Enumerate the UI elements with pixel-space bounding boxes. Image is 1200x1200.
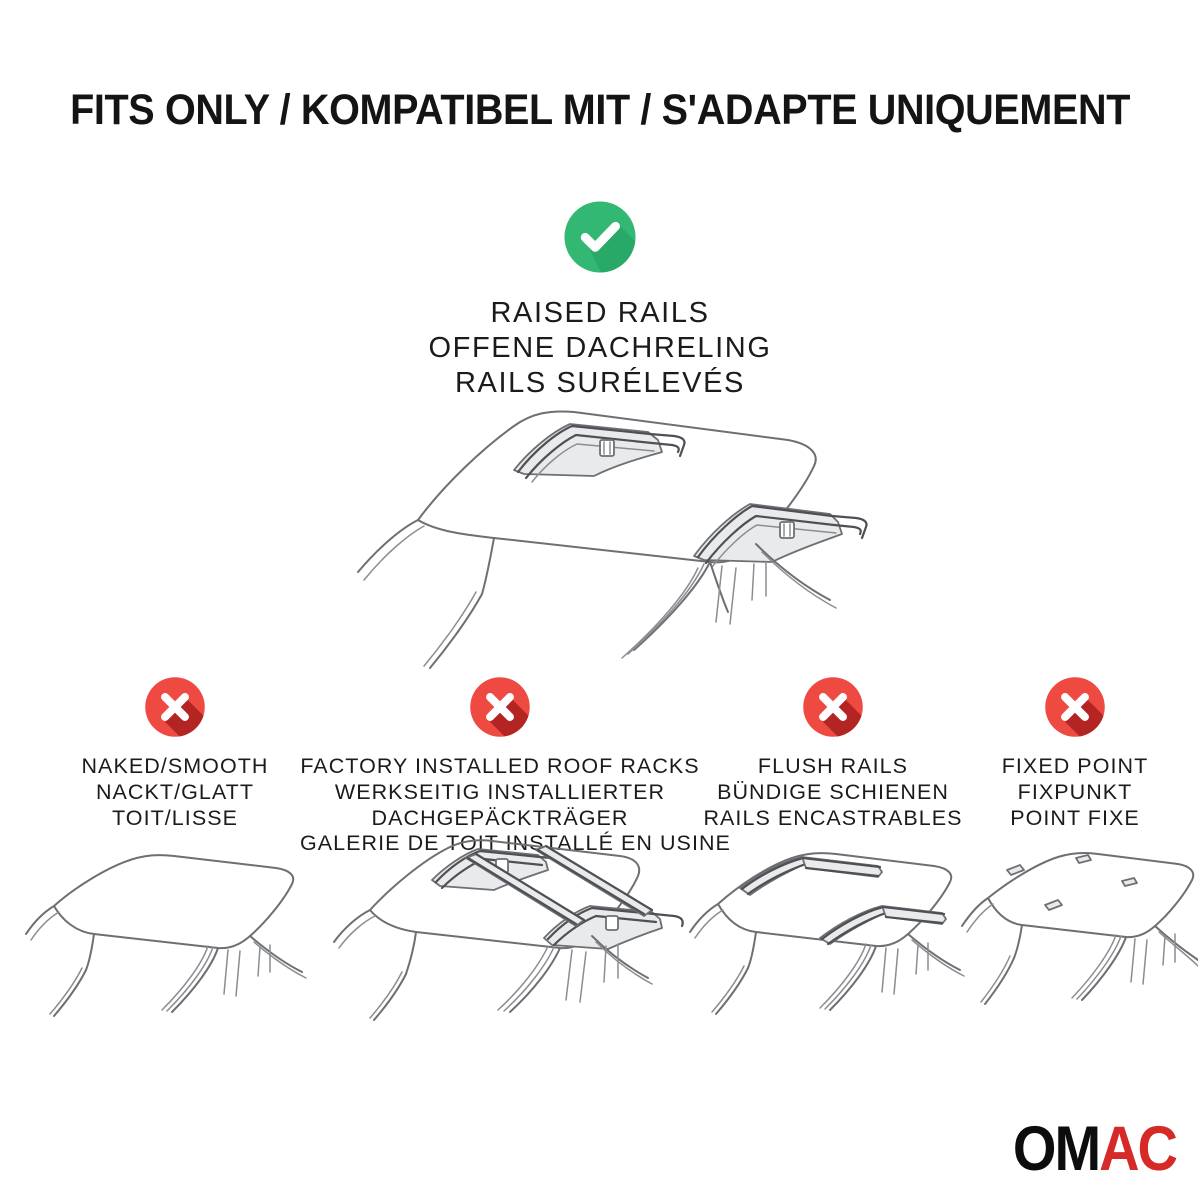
logo-text-ac: AC (1099, 1113, 1176, 1184)
fixed-point-label-en: FIXED POINT (952, 754, 1198, 780)
fixed-point-label-fr: POINT FIXE (952, 806, 1198, 832)
flush-rails-label-fr: RAILS ENCASTRABLES (678, 806, 988, 832)
naked-smooth-label-de: NACKT/GLATT (14, 780, 336, 806)
car-roof-flush-rails-illustration (678, 848, 988, 1028)
factory-racks-label-de1: WERKSEITIG INSTALLIERTER (300, 780, 700, 806)
compatible-label-de: OFFENE DACHRELING (0, 331, 1200, 366)
fixed-point-labels: FIXED POINT FIXPUNKT POINT FIXE (952, 754, 1198, 831)
omac-logo: OMAC (1013, 1117, 1176, 1180)
compatible-label-en: RAISED RAILS (0, 296, 1200, 331)
incompatible-item-factory-racks: FACTORY INSTALLED ROOF RACKS WERKSEITIG … (300, 676, 700, 857)
flush-rails-label-en: FLUSH RAILS (678, 754, 988, 780)
flush-rails-label-de: BÜNDIGE SCHIENEN (678, 780, 988, 806)
naked-smooth-labels: NAKED/SMOOTH NACKT/GLATT TOIT/LISSE (14, 754, 336, 831)
car-roof-factory-crossbars-illustration (300, 824, 700, 1024)
incompatible-item-flush-rails: FLUSH RAILS BÜNDIGE SCHIENEN RAILS ENCAS… (678, 676, 988, 831)
infographic-page: FITS ONLY / KOMPATIBEL MIT / S'ADAPTE UN… (0, 0, 1200, 1200)
car-roof-naked-illustration (14, 848, 336, 1028)
factory-racks-label-en: FACTORY INSTALLED ROOF RACKS (300, 754, 700, 780)
page-title: FITS ONLY / KOMPATIBEL MIT / S'ADAPTE UN… (70, 86, 1130, 135)
naked-smooth-label-fr: TOIT/LISSE (14, 806, 336, 832)
car-roof-fixed-point-illustration (952, 848, 1198, 1028)
x-circle-icon (469, 676, 531, 738)
incompatible-item-fixed-point: FIXED POINT FIXPUNKT POINT FIXE (952, 676, 1198, 831)
fixed-point-label-de: FIXPUNKT (952, 780, 1198, 806)
flush-rails-labels: FLUSH RAILS BÜNDIGE SCHIENEN RAILS ENCAS… (678, 754, 988, 831)
compatible-label-fr: RAILS SURÉLEVÉS (0, 366, 1200, 401)
incompatible-row: NAKED/SMOOTH NACKT/GLATT TOIT/LISSE (0, 676, 1200, 1146)
title-bar: FITS ONLY / KOMPATIBEL MIT / S'ADAPTE UN… (0, 86, 1200, 135)
x-circle-icon (144, 676, 206, 738)
incompatible-item-naked-smooth: NAKED/SMOOTH NACKT/GLATT TOIT/LISSE (14, 676, 336, 831)
compatible-section: RAISED RAILS OFFENE DACHRELING RAILS SUR… (0, 200, 1200, 400)
check-circle-icon (563, 200, 637, 274)
naked-smooth-label-en: NAKED/SMOOTH (14, 754, 336, 780)
x-circle-icon (802, 676, 864, 738)
car-roof-raised-rails-illustration (318, 404, 888, 684)
compatible-labels: RAISED RAILS OFFENE DACHRELING RAILS SUR… (0, 296, 1200, 400)
x-circle-icon (1044, 676, 1106, 738)
logo-text-om: OM (1013, 1113, 1099, 1184)
